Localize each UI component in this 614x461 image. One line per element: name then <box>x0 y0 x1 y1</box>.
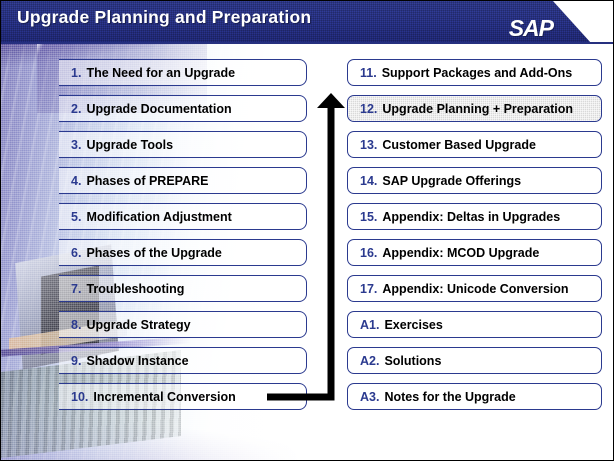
agenda-item-number: 2. <box>71 102 81 116</box>
agenda-item-label: Customer Based Upgrade <box>382 138 536 152</box>
agenda-item-label: Modification Adjustment <box>86 210 231 224</box>
agenda-item-2[interactable]: 2.Upgrade Documentation <box>59 95 307 122</box>
connector-arrow-head <box>317 93 345 108</box>
agenda-item-number: 3. <box>71 138 81 152</box>
agenda-item-number: 16. <box>360 246 377 260</box>
agenda-item-label: Phases of the Upgrade <box>86 246 221 260</box>
agenda-item-a2[interactable]: A2.Solutions <box>347 347 602 374</box>
agenda-right-column: 11.Support Packages and Add-Ons12.Upgrad… <box>347 59 602 419</box>
agenda-item-9[interactable]: 9.Shadow Instance <box>59 347 307 374</box>
agenda-item-label: SAP Upgrade Offerings <box>382 174 521 188</box>
agenda-item-label: Appendix: Deltas in Upgrades <box>382 210 560 224</box>
agenda-item-number: 7. <box>71 282 81 296</box>
agenda-item-label: Incremental Conversion <box>93 390 235 404</box>
agenda-item-15[interactable]: 15.Appendix: Deltas in Upgrades <box>347 203 602 230</box>
agenda-item-label: Upgrade Planning + Preparation <box>382 102 573 116</box>
agenda-item-label: Upgrade Tools <box>86 138 173 152</box>
agenda-item-12[interactable]: 12.Upgrade Planning + Preparation <box>347 95 602 122</box>
header-underline <box>1 42 614 44</box>
agenda-item-label: Upgrade Documentation <box>86 102 231 116</box>
agenda-item-13[interactable]: 13.Customer Based Upgrade <box>347 131 602 158</box>
agenda-item-label: Exercises <box>384 318 442 332</box>
agenda-item-number: 9. <box>71 354 81 368</box>
agenda-item-number: 13. <box>360 138 377 152</box>
page-title: Upgrade Planning and Preparation <box>17 7 311 28</box>
agenda-item-7[interactable]: 7.Troubleshooting <box>59 275 307 302</box>
agenda-item-number: 4. <box>71 174 81 188</box>
agenda-item-5[interactable]: 5.Modification Adjustment <box>59 203 307 230</box>
agenda-item-label: Notes for the Upgrade <box>384 390 515 404</box>
agenda-item-label: Shadow Instance <box>86 354 188 368</box>
agenda-item-number: 17. <box>360 282 377 296</box>
agenda-item-label: Upgrade Strategy <box>86 318 190 332</box>
agenda-item-4[interactable]: 4.Phases of PREPARE <box>59 167 307 194</box>
agenda-item-a3[interactable]: A3.Notes for the Upgrade <box>347 383 602 410</box>
sap-logo: SAP <box>509 15 553 42</box>
agenda-item-label: Troubleshooting <box>86 282 184 296</box>
agenda-item-16[interactable]: 16.Appendix: MCOD Upgrade <box>347 239 602 266</box>
agenda-item-number: A2. <box>360 354 379 368</box>
agenda-item-number: 15. <box>360 210 377 224</box>
agenda-item-3[interactable]: 3.Upgrade Tools <box>59 131 307 158</box>
agenda-item-number: 1. <box>71 66 81 80</box>
agenda-item-number: 10. <box>71 390 88 404</box>
agenda-item-number: 12. <box>360 102 377 116</box>
agenda-item-17[interactable]: 17.Appendix: Unicode Conversion <box>347 275 602 302</box>
agenda-item-label: The Need for an Upgrade <box>86 66 235 80</box>
agenda-item-14[interactable]: 14.SAP Upgrade Offerings <box>347 167 602 194</box>
agenda-item-11[interactable]: 11.Support Packages and Add-Ons <box>347 59 602 86</box>
agenda-item-label: Solutions <box>384 354 441 368</box>
slide-canvas: Upgrade Planning and Preparation SAP 1.T… <box>0 0 614 461</box>
agenda-item-label: Phases of PREPARE <box>86 174 208 188</box>
slide-header: Upgrade Planning and Preparation SAP <box>1 1 614 43</box>
agenda-item-number: 5. <box>71 210 81 224</box>
agenda-item-6[interactable]: 6.Phases of the Upgrade <box>59 239 307 266</box>
agenda-item-label: Appendix: Unicode Conversion <box>382 282 568 296</box>
agenda-item-number: 11. <box>360 66 377 80</box>
agenda-item-number: A1. <box>360 318 379 332</box>
agenda-item-label: Appendix: MCOD Upgrade <box>382 246 539 260</box>
agenda-item-number: 14. <box>360 174 377 188</box>
agenda-item-label: Support Packages and Add-Ons <box>382 66 573 80</box>
agenda-left-column: 1.The Need for an Upgrade2.Upgrade Docum… <box>59 59 307 419</box>
agenda-item-10[interactable]: 10.Incremental Conversion <box>59 383 307 410</box>
agenda-item-1[interactable]: 1.The Need for an Upgrade <box>59 59 307 86</box>
agenda-item-a1[interactable]: A1.Exercises <box>347 311 602 338</box>
agenda-item-number: 6. <box>71 246 81 260</box>
agenda-item-8[interactable]: 8.Upgrade Strategy <box>59 311 307 338</box>
agenda-item-number: A3. <box>360 390 379 404</box>
agenda-item-number: 8. <box>71 318 81 332</box>
